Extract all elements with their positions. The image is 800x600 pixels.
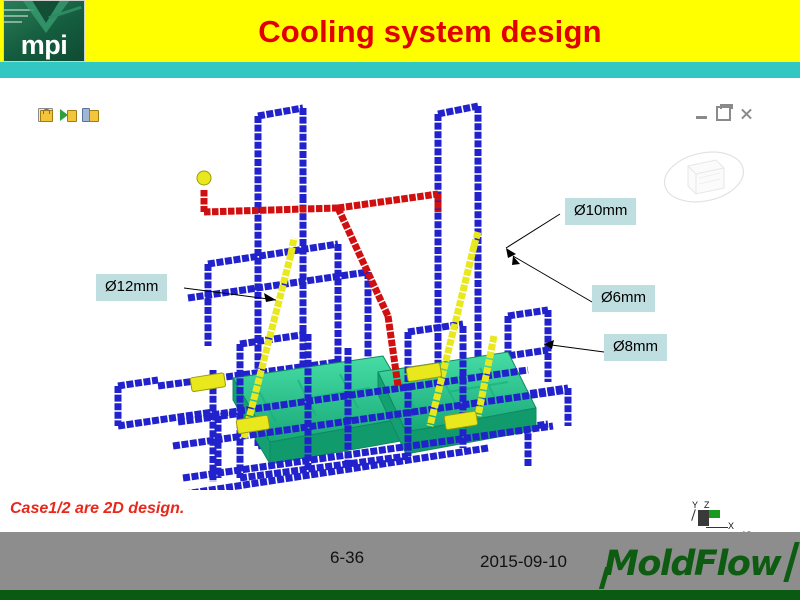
minimize-icon[interactable] [696, 116, 707, 119]
viewer-toolbar[interactable] [38, 108, 97, 122]
close-icon[interactable] [740, 108, 752, 120]
page-title: Cooling system design [100, 13, 760, 53]
autodesk-watermark-icon [658, 142, 750, 212]
mpi-logo: mpi [3, 0, 85, 62]
logo-chevron-inner-icon [30, 0, 62, 23]
locked-view-icon[interactable] [38, 108, 53, 122]
slide-date: 2015-09-10 [480, 552, 567, 572]
restore-icon[interactable] [716, 106, 731, 121]
moldflow-logo-swoosh [743, 542, 799, 582]
slide: mpi Cooling system design [0, 0, 800, 600]
header-accent-bar [0, 62, 800, 78]
axis-label-z: Z [704, 501, 710, 510]
mpi-logo-text: mpi [4, 31, 84, 59]
callout-d10: Ø10mm [565, 198, 636, 225]
orientation-cube-icon [698, 510, 720, 526]
callout-d8: Ø8mm [604, 334, 667, 361]
callout-d12: Ø12mm [96, 274, 167, 301]
slide-note: Case1/2 are 2D design. [10, 500, 184, 518]
play-lock-icon[interactable] [60, 108, 75, 122]
moldflow-logo: MoldFlow [600, 540, 796, 592]
lock-pair-icon[interactable] [82, 108, 97, 122]
callout-d6: Ø6mm [592, 285, 655, 312]
viewer-window-controls[interactable] [696, 106, 752, 121]
page-number: 6-36 [330, 548, 364, 568]
